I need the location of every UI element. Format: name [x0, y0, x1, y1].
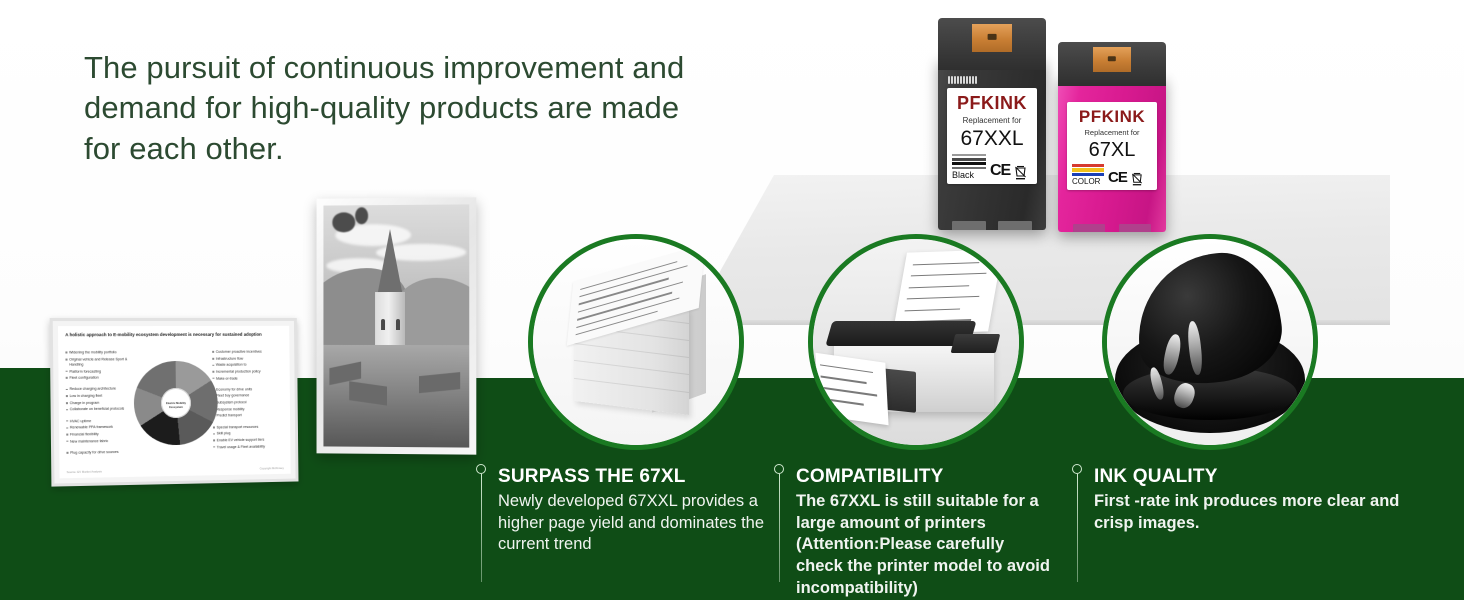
bullet-group: HVAC uptimeRenewable PPA frameworkFinanc… [66, 418, 139, 444]
town-buildings [323, 345, 469, 447]
printed-chart-document: A holistic approach to E-mobility ecosys… [50, 318, 299, 487]
bullet-label: Make-or-trade [216, 376, 238, 381]
bullet-dot-icon [212, 358, 214, 360]
replacement-for-label: Replacement for [1084, 129, 1139, 137]
feature-title: COMPATIBILITY [796, 466, 1054, 488]
bullet-dot-icon [212, 378, 214, 380]
bullet-label: Skill plug [217, 431, 231, 436]
chart-page: A holistic approach to E-mobility ecosys… [58, 326, 291, 478]
bullet-dot-icon [213, 446, 215, 448]
printer-image [813, 239, 1019, 445]
chart-columns: Widening the mobility portfolioOriginal … [65, 350, 283, 464]
bullet-dot-icon [213, 440, 215, 442]
chart-bullet: Financial flexibility [66, 431, 139, 437]
bullet-label: Economy for drive units [216, 387, 252, 393]
chart-bullet: Skill plug [213, 431, 283, 437]
chart-bullet: Original vehicle and Release Sport & Han… [65, 357, 138, 368]
bullet-dot-icon [66, 434, 68, 436]
bullet-label: Fleet configuration [69, 376, 98, 382]
chart-bullet: Infrastructure flow [212, 356, 282, 362]
feature-text: SURPASS THE 67XL Newly developed 67XXL p… [498, 466, 776, 556]
pin-line-icon [1077, 474, 1078, 582]
bullet-label: Special transport resources [217, 425, 259, 431]
chart-bullet: Widening the mobility portfolio [65, 350, 138, 356]
bullet-dot-icon [213, 433, 215, 435]
headline: The pursuit of continuous improvement an… [84, 48, 724, 169]
feature-body: The 67XXL is still suitable for a large … [796, 491, 1054, 600]
foliage-shape [332, 213, 355, 232]
bullet-dot-icon [212, 364, 214, 366]
bullet-label: Plug capacity for drive sources [70, 450, 119, 456]
pin-marker [1072, 464, 1086, 582]
black-cartridge: PFKINK Replacement for 67XXL Black CE [938, 18, 1046, 230]
bullet-group: Special transport resourcesSkill plugEna… [213, 424, 284, 450]
ink-kind-label: Black [952, 171, 986, 180]
pin-dot-icon [1072, 464, 1082, 474]
bullet-dot-icon [66, 440, 68, 442]
pin-dot-icon [476, 464, 486, 474]
bullet-group: Plug capacity for drive sources [66, 449, 139, 456]
cartridge-vent-row [948, 76, 977, 84]
pin-line-icon [779, 474, 780, 582]
chart-bullet: HVAC uptime [66, 418, 139, 424]
bullet-dot-icon [66, 395, 68, 397]
bullet-dot-icon [66, 452, 68, 454]
bullet-label: Widening the mobility portfolio [69, 350, 117, 356]
chart-footer-left: Source: EV Market Analysis [67, 469, 102, 474]
chart-bullet: Plug capacity for drive sources [66, 449, 139, 456]
bullet-label: Predict transport [216, 414, 241, 420]
feature-text: INK QUALITY First -rate ink produces mor… [1094, 466, 1402, 534]
chart-bullet: Travel usage & Fleet availability [213, 444, 283, 450]
feature-text: COMPATIBILITY The 67XXL is still suitabl… [796, 466, 1054, 600]
chart-footer: Source: EV Market Analysis Copyright McK… [67, 466, 284, 474]
feature-title: INK QUALITY [1094, 466, 1402, 488]
ink-splash-circle [1102, 234, 1318, 450]
bullet-dot-icon [65, 352, 67, 354]
bullet-label: Low in charging fleet [70, 394, 103, 400]
feature-body: First -rate ink produces more clear and … [1094, 491, 1402, 535]
donut-center-label: Electric Mobility Ecosystem [161, 402, 191, 410]
bullet-group: Economy for drive unitsFleet buy governa… [213, 387, 284, 419]
bullet-label: HVAC uptime [70, 419, 91, 425]
chart-bullet: Make-or-trade [212, 376, 282, 382]
pin-marker [476, 464, 490, 582]
bullet-group: Widening the mobility portfolioOriginal … [65, 350, 138, 381]
weee-bin-icon [1131, 172, 1143, 186]
chart-bullet: Collaborate on beneficial protocols [66, 407, 139, 413]
feature-title: SURPASS THE 67XL [498, 466, 776, 488]
bullet-label: Collaborate on beneficial protocols [70, 407, 125, 413]
bullet-group: Customer proactive incentivesInfrastruct… [212, 350, 283, 382]
bullet-label: Original vehicle and Release Sport & Han… [69, 357, 138, 368]
chart-bullet: Fleet configuration [66, 375, 139, 381]
ink-splash-image [1107, 239, 1313, 445]
bullet-label: Infrastructure flow [216, 356, 243, 361]
bullet-label: Charge in program [70, 400, 100, 406]
chart-bullet: Renewable PPA framework [66, 425, 139, 431]
chart-donut-column: Electric Mobility Ecosystem [138, 350, 213, 463]
bullet-label: Enable EV vehicle support tiers [217, 438, 265, 444]
headline-line-1: The pursuit of continuous improvement an… [84, 48, 724, 88]
chart-bullet: Economy for drive units [213, 387, 283, 393]
weee-bin-icon [1014, 165, 1027, 180]
bullet-dot-icon [66, 402, 68, 404]
chart-bullet: Special transport resources [213, 424, 283, 430]
bullet-label: Renewable PPA framework [70, 425, 113, 431]
cartridge-label: PFKINK Replacement for 67XL COLOR CE [1067, 102, 1157, 190]
ink-color-swatch [952, 154, 986, 169]
pin-line-icon [481, 474, 482, 582]
cartridge-body: PFKINK Replacement for 67XL COLOR CE [1058, 76, 1166, 232]
ink-kind-label: COLOR [1072, 178, 1104, 186]
bullet-dot-icon [66, 420, 68, 422]
printed-page-output [816, 353, 889, 425]
printer-circle [808, 234, 1024, 450]
headline-line-2: demand for high-quality products are mad… [84, 88, 724, 128]
cartridge-base-contacts [1058, 220, 1166, 232]
bullet-label: Reduce charging architecture [69, 387, 116, 393]
tower-window [381, 319, 385, 330]
bullet-label: Incremental production policy [216, 369, 261, 375]
bullet-label: Platform forecasting [69, 369, 101, 375]
chart-bullet: Customer proactive incentives [212, 350, 282, 356]
cartridge-label: PFKINK Replacement for 67XXL Black CE [947, 88, 1037, 184]
bullet-dot-icon [212, 351, 214, 353]
brand-name: PFKINK [957, 94, 1027, 112]
chart-bullet: Predict transport [213, 413, 283, 419]
bullet-dot-icon [212, 371, 214, 373]
ce-mark-icon: CE [990, 163, 1010, 179]
bullet-label: Customer proactive incentives [216, 350, 262, 355]
chart-right-bullets: Customer proactive incentivesInfrastruct… [212, 350, 284, 462]
paper-stack-image [533, 239, 739, 445]
bullet-label: Financial flexibility [70, 432, 99, 438]
bullet-dot-icon [66, 371, 68, 373]
bullet-group: Reduce charging architectureLow in charg… [66, 387, 139, 413]
bullet-dot-icon [66, 427, 68, 429]
paper-stack-circle [528, 234, 744, 450]
chart-bullet: Platform forecasting [66, 369, 139, 375]
chart-footer-center: Copyright McKinsey [260, 466, 284, 470]
cartridge-contacts [972, 24, 1012, 52]
bullet-dot-icon [65, 358, 67, 360]
color-cartridge: PFKINK Replacement for 67XL COLOR CE [1058, 42, 1166, 232]
foliage-shape [355, 208, 368, 225]
bullet-label: New maintenance fabric [70, 439, 108, 445]
framed-photo [317, 197, 477, 454]
model-number: 67XXL [960, 128, 1023, 149]
feature-body: Newly developed 67XXL provides a higher … [498, 491, 776, 556]
chart-bullet: Incremental production policy [212, 369, 282, 375]
chart-bullet: Waste acquisition to [212, 363, 282, 369]
cartridge-base-contacts [938, 216, 1046, 230]
bullet-label: Subsystem protocol [216, 400, 246, 406]
chart-bullet: Enable EV vehicle support tiers [213, 437, 283, 443]
cartridge-contacts [1093, 47, 1131, 72]
bullet-dot-icon [213, 426, 215, 428]
chart-bullet: Low in charging fleet [66, 393, 139, 399]
chart-bullet: Response mobility [213, 407, 283, 413]
pin-dot-icon [774, 464, 784, 474]
pin-marker [774, 464, 788, 582]
chart-bullet: Reduce charging architecture [66, 387, 139, 393]
chart-bullet: New maintenance fabric [66, 438, 139, 444]
printer-control-panel [951, 334, 1001, 353]
chart-bullet: Subsystem protocol [213, 400, 283, 406]
brand-name: PFKINK [1079, 108, 1145, 125]
photo-image [323, 204, 469, 447]
tower-window [396, 319, 400, 330]
bullet-label: Travel usage & Fleet availability [217, 444, 265, 450]
chart-left-bullets: Widening the mobility portfolioOriginal … [65, 350, 139, 464]
chart-title: A holistic approach to E-mobility ecosys… [65, 332, 282, 339]
bullet-dot-icon [66, 409, 68, 411]
bullet-dot-icon [66, 377, 68, 379]
ink-color-swatch [1072, 164, 1104, 177]
bullet-label: Response mobility [216, 407, 244, 413]
model-number: 67XL [1089, 140, 1136, 160]
bullet-label: Fleet buy governance [216, 394, 249, 400]
replacement-for-label: Replacement for [963, 117, 1022, 125]
chart-bullet: Fleet buy governance [213, 393, 283, 399]
bullet-dot-icon [66, 389, 68, 391]
bullet-label: Waste acquisition to [216, 363, 247, 368]
chart-bullet: Charge in program [66, 400, 139, 406]
ce-mark-icon: CE [1108, 170, 1127, 185]
headline-line-3: for each other. [84, 129, 724, 169]
promo-banner: The pursuit of continuous improvement an… [0, 0, 1464, 600]
